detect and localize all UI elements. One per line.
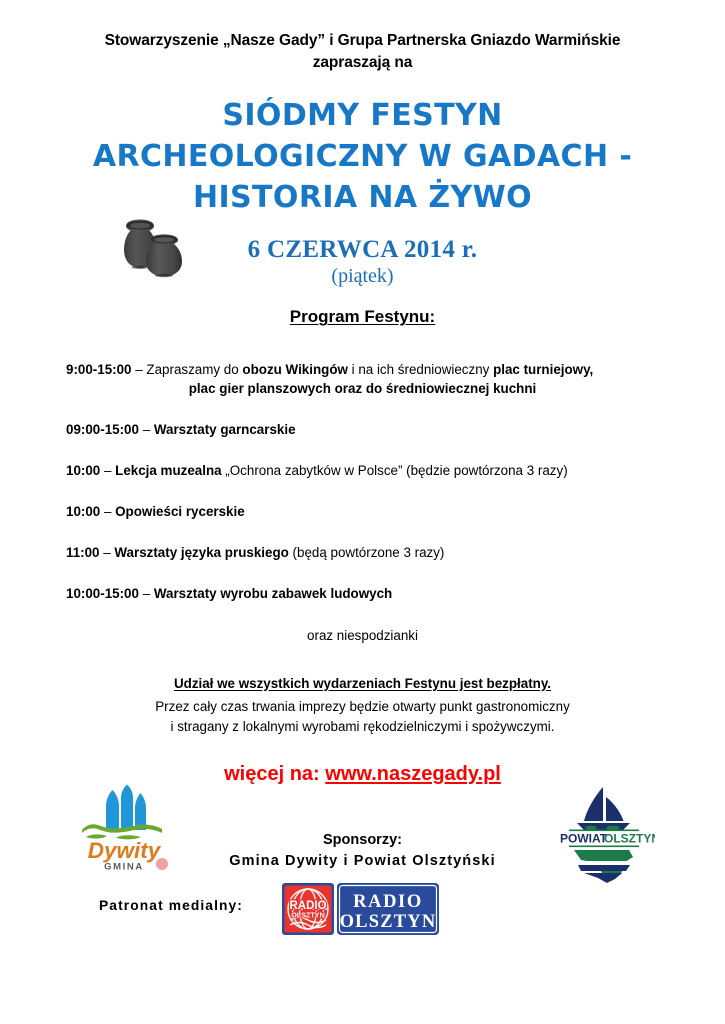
- sailboat-icon: [577, 787, 630, 830]
- event-title-line-1: SIÓDMY FESTYN: [0, 95, 725, 136]
- dywity-subtitle: GMINA: [104, 862, 144, 873]
- radio-olsztyn-nameplate: RADIO OLSZTYN: [337, 883, 439, 935]
- media-patronage-row: Patronat medialny: RADIO OL: [0, 882, 725, 942]
- program-item-highlight: Lekcja muzealna: [115, 463, 221, 478]
- poster-page: Stowarzyszenie „Nasze Gady” i Grupa Part…: [0, 0, 725, 1024]
- radio-olsztyn-mark-icon: RADIO OLSZTYN: [282, 883, 334, 935]
- program-item-time: 09:00-15:00: [66, 422, 139, 437]
- program-item-dash: –: [139, 586, 154, 601]
- media-patronage-label: Patronat medialny:: [99, 898, 243, 913]
- event-title-line-3: HISTORIA NA ŻYWO: [0, 177, 725, 218]
- program-item: 11:00 – Warsztaty języka pruskiego (będą…: [0, 543, 725, 562]
- organizer-line-2: zapraszają na: [0, 52, 725, 74]
- powiat-map-icon: [574, 850, 633, 883]
- event-title-line-2: ARCHEOLOGICZNY W GADACH -: [0, 136, 725, 177]
- program-item-text-2: i na ich średniowieczny: [348, 362, 493, 377]
- more-info-line: więcej na: www.naszegady.pl: [0, 763, 725, 786]
- program-item-dash: –: [100, 463, 115, 478]
- program-item-time: 9:00-15:00: [66, 362, 132, 377]
- program-item-time: 10:00: [66, 504, 100, 519]
- program-item-text: Zapraszamy do: [146, 362, 242, 377]
- program-item: 10:00-15:00 – Warsztaty wyrobu zabawek l…: [0, 584, 725, 603]
- program-item-time: 10:00-15:00: [66, 586, 139, 601]
- powiat-olsztynski-logo: POWIAT OLSZTYŃSKI: [551, 784, 655, 884]
- free-entry-block: Udział we wszystkich wydarzeniach Festyn…: [0, 674, 725, 738]
- program-item-text: (będą powtórzone 3 razy): [289, 545, 445, 560]
- program-item-dash: –: [139, 422, 154, 437]
- program-item-dash: –: [132, 362, 147, 377]
- program-item-dash: –: [100, 504, 115, 519]
- program-item: 9:00-15:00 – Zapraszamy do obozu Wikingó…: [0, 360, 725, 398]
- program-heading: Program Festynu:: [0, 307, 725, 327]
- program-item-highlight: Warsztaty garncarskie: [154, 422, 296, 437]
- program-item-highlight: Opowieści rycerskie: [115, 504, 245, 519]
- radio-mark-line-2: OLSZTYN: [291, 911, 325, 920]
- program-item-time: 11:00: [66, 545, 100, 560]
- program-item-highlight: Warsztaty wyrobu zabawek ludowych: [154, 586, 392, 601]
- dywity-wordmark: Dywity: [88, 838, 162, 863]
- event-title: SIÓDMY FESTYN ARCHEOLOGICZNY W GADACH - …: [0, 95, 725, 218]
- organizer-line-1: Stowarzyszenie „Nasze Gady” i Grupa Part…: [0, 30, 725, 52]
- program-item-time: 10:00: [66, 463, 100, 478]
- program-heading-text: Program Festynu:: [290, 307, 435, 326]
- dywity-logo: Dywity GMINA: [76, 784, 172, 874]
- event-date: 6 CZERWCA 2014 r. (piątek): [0, 236, 725, 288]
- program-item-highlight: obozu Wikingów: [242, 362, 348, 377]
- program-list: 9:00-15:00 – Zapraszamy do obozu Wikingó…: [0, 360, 725, 603]
- website-link[interactable]: www.naszegady.pl: [325, 763, 501, 785]
- radio-name-line-2: OLSZTYN: [340, 912, 437, 932]
- program-item-dash: –: [100, 545, 115, 560]
- free-entry-title: Udział we wszystkich wydarzeniach Festyn…: [0, 674, 725, 694]
- program-item: 10:00 – Lekcja muzealna „Ochrona zabytkó…: [0, 461, 725, 480]
- organizer-header: Stowarzyszenie „Nasze Gady” i Grupa Part…: [0, 0, 725, 74]
- radio-name-line-1: RADIO: [353, 892, 423, 912]
- radio-olsztyn-logo: RADIO OLSZTYN RADIO OLSZTYN: [281, 882, 440, 936]
- program-item-highlight-2: plac turniejowy,: [493, 362, 593, 377]
- program-extra-note: oraz niespodzianki: [0, 628, 725, 643]
- pottery-illustration: [118, 214, 202, 282]
- program-item-line-2: plac gier planszowych oraz do średniowie…: [189, 381, 537, 396]
- program-item-text: „Ochrona zabytków w Polsce” (będzie powt…: [222, 463, 568, 478]
- free-entry-line-2: i stragany z lokalnymi wyrobami rękodzie…: [0, 717, 725, 737]
- event-date-weekday: (piątek): [0, 265, 725, 288]
- powiat-rule-bottom: [569, 846, 639, 848]
- event-date-main: 6 CZERWCA 2014 r.: [0, 236, 725, 264]
- powiat-word-1: POWIAT: [560, 832, 608, 846]
- powiat-word-2: OLSZTYŃSKI: [604, 831, 655, 846]
- program-item: 10:00 – Opowieści rycerskie: [0, 502, 725, 521]
- dywity-spires-icon: [106, 785, 146, 831]
- pottery-vessel-front: [146, 234, 182, 277]
- dywity-seal-icon: [156, 858, 168, 870]
- program-item: 09:00-15:00 – Warsztaty garncarskie: [0, 420, 725, 439]
- more-info-prefix: więcej na:: [224, 763, 325, 785]
- program-item-highlight: Warsztaty języka pruskiego: [114, 545, 288, 560]
- free-entry-line-1: Przez cały czas trwania imprezy będzie o…: [0, 697, 725, 717]
